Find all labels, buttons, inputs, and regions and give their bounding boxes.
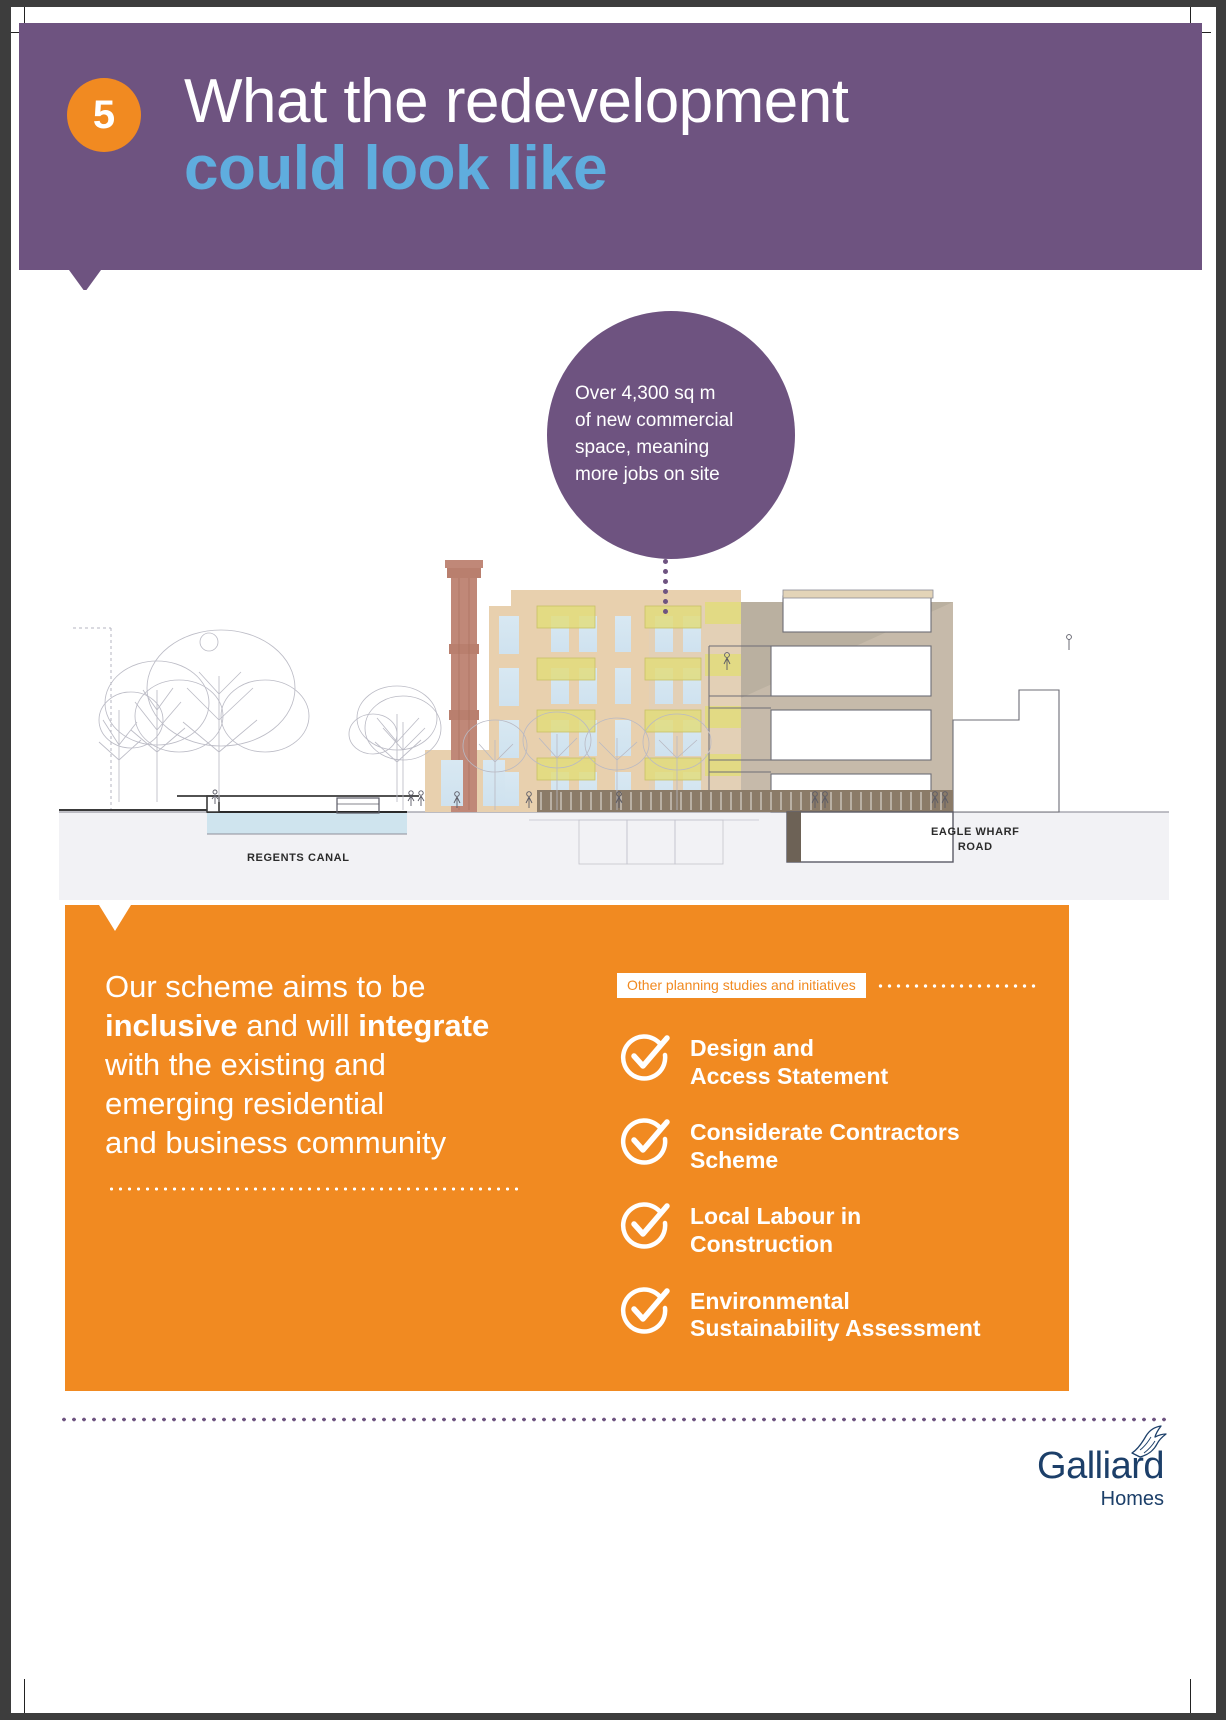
callout-text: Over 4,300 sq m of new commercial space,…: [575, 381, 733, 489]
list-item: Considerate Contractors Scheme: [617, 1116, 1037, 1174]
galliard-homes-logo: Galliard Homes: [1037, 1447, 1164, 1509]
crop-mark-br-v: [1190, 1679, 1191, 1713]
footer-dotted-rule: [59, 1417, 1169, 1422]
planning-studies-dotted-rule: [876, 984, 1037, 988]
crop-mark-bl-v: [24, 1679, 25, 1713]
check-circle-icon: [617, 1196, 673, 1252]
statement-line-4: emerging residential: [105, 1084, 545, 1123]
check-circle-icon: [617, 1112, 673, 1168]
planning-studies-tag: Other planning studies and initiatives: [617, 973, 866, 998]
page-title: What the redevelopment could look like: [184, 69, 849, 201]
list-item-label: Considerate Contractors Scheme: [690, 1116, 960, 1174]
statement-line-1: Our scheme aims to be: [105, 967, 545, 1006]
list-item: Design and Access Statement: [617, 1032, 1037, 1090]
statement-line-5: and business community: [105, 1123, 545, 1162]
list-item-label: Local Labour in Construction: [690, 1200, 861, 1258]
planning-studies-list: Design and Access Statement Considerate …: [617, 1032, 1037, 1343]
list-item: Local Labour in Construction: [617, 1200, 1037, 1258]
commercial-space-callout: Over 4,300 sq m of new commercial space,…: [547, 311, 795, 559]
step-number-badge: 5: [67, 78, 141, 152]
page-title-line1: What the redevelopment: [184, 69, 849, 134]
statement-bold-inclusive: inclusive: [105, 1008, 238, 1043]
statement-line2-mid: and will: [238, 1008, 359, 1043]
list-item-label: Design and Access Statement: [690, 1032, 888, 1090]
check-circle-icon: [617, 1028, 673, 1084]
header-pointer-notch: [69, 270, 101, 292]
panel-pointer-notch: [99, 905, 131, 931]
planning-studies-section: Other planning studies and initiatives D…: [617, 973, 1037, 1369]
label-eagle-wharf-road: EAGLE WHARF ROAD: [931, 825, 1019, 856]
step-number-label: 5: [93, 93, 115, 138]
logo-subtext: Homes: [1037, 1489, 1164, 1509]
check-circle-icon: [617, 1281, 673, 1337]
label-regents-canal: REGENTS CANAL: [247, 852, 350, 864]
bird-emblem-icon: [1128, 1423, 1168, 1461]
statement-dotted-rule: [107, 1187, 523, 1191]
callout-leader-dots: [663, 559, 668, 614]
statement-line-2: inclusive and will integrate: [105, 1006, 545, 1045]
statement-bold-integrate: integrate: [358, 1008, 489, 1043]
list-item: Environmental Sustainability Assessment: [617, 1285, 1037, 1343]
scheme-statement: Our scheme aims to be inclusive and will…: [105, 967, 545, 1162]
brochure-page: 5 What the redevelopment could look like: [11, 7, 1216, 1713]
page-header: 5 What the redevelopment could look like: [19, 23, 1202, 270]
list-item-label: Environmental Sustainability Assessment: [690, 1285, 981, 1343]
statement-line-3: with the existing and: [105, 1045, 545, 1084]
page-title-line2: could look like: [184, 136, 849, 201]
planning-studies-header: Other planning studies and initiatives: [617, 973, 1037, 998]
